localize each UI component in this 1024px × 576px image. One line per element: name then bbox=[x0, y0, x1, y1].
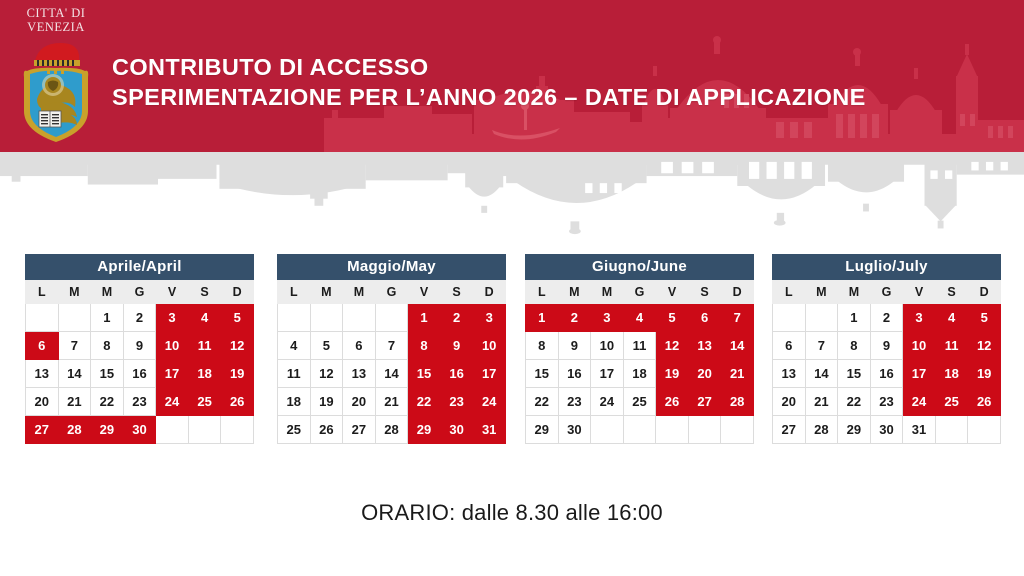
calendar-day-empty bbox=[26, 304, 59, 332]
calendar-day[interactable]: 14 bbox=[805, 360, 838, 388]
calendar-day[interactable]: 20 bbox=[773, 388, 806, 416]
logo-text: CITTA' DI VENEZIA bbox=[6, 6, 106, 34]
calendar-day-highlighted[interactable]: 16 bbox=[440, 360, 473, 388]
calendar-day[interactable]: 30 bbox=[870, 416, 903, 444]
calendar-body: 1234567891011121314151617181920212223242… bbox=[26, 304, 254, 444]
calendar-week-row: 25262728293031 bbox=[278, 416, 506, 444]
calendar-week-row: 13141516171819 bbox=[26, 360, 254, 388]
weekday-header-2: M bbox=[591, 281, 624, 304]
calendar-day[interactable]: 20 bbox=[343, 388, 376, 416]
weekday-header-5: S bbox=[935, 281, 968, 304]
calendar-day-highlighted[interactable]: 28 bbox=[58, 416, 91, 444]
calendar-day[interactable]: 8 bbox=[91, 332, 124, 360]
calendar-day[interactable]: 23 bbox=[870, 388, 903, 416]
calendar-may: Maggio/May LMMGVSD 123456789101112131415… bbox=[277, 254, 506, 444]
calendar-day[interactable]: 7 bbox=[58, 332, 91, 360]
calendar-day-highlighted[interactable]: 4 bbox=[188, 304, 221, 332]
calendar-day[interactable]: 9 bbox=[870, 332, 903, 360]
calendar-day-empty bbox=[221, 416, 254, 444]
slide-root: CITTA' DI VENEZIA bbox=[0, 0, 1024, 576]
calendar-day-highlighted[interactable]: 1 bbox=[408, 304, 441, 332]
calendar-day[interactable]: 13 bbox=[343, 360, 376, 388]
calendar-day-highlighted[interactable]: 11 bbox=[935, 332, 968, 360]
weekday-header-3: G bbox=[375, 281, 408, 304]
calendar-day[interactable]: 26 bbox=[310, 416, 343, 444]
calendar-day[interactable]: 29 bbox=[838, 416, 871, 444]
calendar-day[interactable]: 15 bbox=[838, 360, 871, 388]
calendar-day-empty bbox=[188, 416, 221, 444]
calendar-day[interactable]: 11 bbox=[278, 360, 311, 388]
calendar-day-empty bbox=[773, 304, 806, 332]
calendar-day[interactable]: 25 bbox=[623, 388, 656, 416]
calendar-day[interactable]: 13 bbox=[26, 360, 59, 388]
calendar-day-highlighted[interactable]: 5 bbox=[221, 304, 254, 332]
weekday-header-2: M bbox=[91, 281, 124, 304]
calendar-day-highlighted[interactable]: 3 bbox=[903, 304, 936, 332]
calendar-june: Giugno/June LMMGVSD 12345678910111213141… bbox=[525, 254, 754, 444]
calendar-body: 1234567891011121314151617181920212223242… bbox=[278, 304, 506, 444]
calendar-day-empty bbox=[343, 304, 376, 332]
calendar-title: Luglio/July bbox=[772, 254, 1001, 280]
calendar-april: Aprile/April LMMGVSD 1234567891011121314… bbox=[25, 254, 254, 444]
calendar-week-row: 891011121314 bbox=[526, 332, 754, 360]
calendar-day-highlighted[interactable]: 2 bbox=[558, 304, 591, 332]
calendar-day[interactable]: 16 bbox=[870, 360, 903, 388]
weekday-header-6: D bbox=[721, 281, 754, 304]
weekday-header-5: S bbox=[440, 281, 473, 304]
calendar-day[interactable]: 14 bbox=[58, 360, 91, 388]
calendar-day-highlighted[interactable]: 15 bbox=[408, 360, 441, 388]
calendar-week-row: 15161718192021 bbox=[526, 360, 754, 388]
calendar-day-highlighted[interactable]: 8 bbox=[408, 332, 441, 360]
calendar-day-highlighted[interactable]: 12 bbox=[656, 332, 689, 360]
calendar-week-row: 12345 bbox=[773, 304, 1001, 332]
calendar-day[interactable]: 7 bbox=[805, 332, 838, 360]
calendar-day[interactable]: 4 bbox=[278, 332, 311, 360]
calendar-day-highlighted[interactable]: 24 bbox=[473, 388, 506, 416]
weekday-header-3: G bbox=[623, 281, 656, 304]
skyline-reflection bbox=[0, 152, 1024, 244]
weekday-header-5: S bbox=[188, 281, 221, 304]
venice-coat-of-arms-icon bbox=[17, 37, 95, 145]
calendar-week-row: 45678910 bbox=[278, 332, 506, 360]
calendar-day[interactable]: 14 bbox=[375, 360, 408, 388]
weekday-header-4: V bbox=[156, 281, 189, 304]
calendar-day[interactable]: 30 bbox=[558, 416, 591, 444]
page-title-line1: CONTRIBUTO DI ACCESSO bbox=[112, 52, 866, 82]
calendar-day[interactable]: 21 bbox=[805, 388, 838, 416]
calendar-day-highlighted[interactable]: 2 bbox=[440, 304, 473, 332]
calendar-day-highlighted[interactable]: 6 bbox=[26, 332, 59, 360]
calendar-day[interactable]: 9 bbox=[123, 332, 156, 360]
calendar-day-highlighted[interactable]: 7 bbox=[721, 304, 754, 332]
calendar-day-highlighted[interactable]: 5 bbox=[968, 304, 1001, 332]
page-title: CONTRIBUTO DI ACCESSO SPERIMENTAZIONE PE… bbox=[112, 52, 866, 112]
calendar-day-highlighted[interactable]: 20 bbox=[688, 360, 721, 388]
weekday-header-1: M bbox=[805, 281, 838, 304]
logo-text-line1: CITTA' DI bbox=[6, 6, 106, 20]
calendar-week-row: 20212223242526 bbox=[773, 388, 1001, 416]
calendar-day-empty bbox=[58, 304, 91, 332]
weekday-header-3: G bbox=[870, 281, 903, 304]
calendar-day-highlighted[interactable]: 24 bbox=[156, 388, 189, 416]
calendar-week-row: 2930 bbox=[526, 416, 754, 444]
calendar-day[interactable]: 29 bbox=[526, 416, 559, 444]
calendar-day-highlighted[interactable]: 18 bbox=[188, 360, 221, 388]
calendar-day[interactable]: 11 bbox=[623, 332, 656, 360]
calendar-day-highlighted[interactable]: 10 bbox=[903, 332, 936, 360]
calendar-day-empty bbox=[721, 416, 754, 444]
calendar-day[interactable]: 19 bbox=[310, 388, 343, 416]
calendar-week-row: 12345 bbox=[26, 304, 254, 332]
calendar-day-highlighted[interactable]: 4 bbox=[623, 304, 656, 332]
calendar-day-highlighted[interactable]: 21 bbox=[721, 360, 754, 388]
calendar-day[interactable]: 27 bbox=[343, 416, 376, 444]
calendar-day-empty bbox=[688, 416, 721, 444]
calendar-day-highlighted[interactable]: 30 bbox=[440, 416, 473, 444]
calendar-day[interactable]: 21 bbox=[375, 388, 408, 416]
weekday-header-6: D bbox=[473, 281, 506, 304]
calendar-week-row: 22232425262728 bbox=[526, 388, 754, 416]
calendar-day[interactable]: 7 bbox=[375, 332, 408, 360]
calendar-day[interactable]: 15 bbox=[526, 360, 559, 388]
calendar-title: Aprile/April bbox=[25, 254, 254, 280]
calendar-day[interactable]: 16 bbox=[123, 360, 156, 388]
calendar-day-empty bbox=[278, 304, 311, 332]
calendar-day[interactable]: 23 bbox=[123, 388, 156, 416]
calendar-day-highlighted[interactable]: 10 bbox=[473, 332, 506, 360]
calendar-day-highlighted[interactable]: 25 bbox=[188, 388, 221, 416]
calendar-day-empty bbox=[310, 304, 343, 332]
calendar-title: Giugno/June bbox=[525, 254, 754, 280]
calendar-week-row: 18192021222324 bbox=[278, 388, 506, 416]
weekday-row: LMMGVSD bbox=[773, 281, 1001, 304]
calendar-day-highlighted[interactable]: 1 bbox=[526, 304, 559, 332]
calendar-week-row: 6789101112 bbox=[773, 332, 1001, 360]
calendar-day[interactable]: 27 bbox=[773, 416, 806, 444]
calendar-day[interactable]: 16 bbox=[558, 360, 591, 388]
calendar-week-row: 1234567 bbox=[526, 304, 754, 332]
calendar-week-row: 11121314151617 bbox=[278, 360, 506, 388]
calendar-day[interactable]: 6 bbox=[773, 332, 806, 360]
calendar-week-row: 123 bbox=[278, 304, 506, 332]
weekday-header-2: M bbox=[838, 281, 871, 304]
opening-hours-note: ORARIO: dalle 8.30 alle 16:00 bbox=[0, 500, 1024, 526]
weekday-header-4: V bbox=[903, 281, 936, 304]
weekday-header-0: L bbox=[278, 281, 311, 304]
calendar-day-empty bbox=[805, 304, 838, 332]
calendar-day-empty bbox=[656, 416, 689, 444]
calendar-day[interactable]: 22 bbox=[91, 388, 124, 416]
calendar-day-empty bbox=[968, 416, 1001, 444]
calendar-week-row: 6789101112 bbox=[26, 332, 254, 360]
weekday-row: LMMGVSD bbox=[26, 281, 254, 304]
calendar-day-highlighted[interactable]: 6 bbox=[688, 304, 721, 332]
calendar-day[interactable]: 25 bbox=[278, 416, 311, 444]
calendar-grid: LMMGVSD 12345678910111213141516171819202… bbox=[25, 280, 254, 444]
calendar-day[interactable]: 8 bbox=[838, 332, 871, 360]
calendar-body: 1234567891011121314151617181920212223242… bbox=[526, 304, 754, 444]
calendar-day[interactable]: 1 bbox=[91, 304, 124, 332]
calendar-day-empty bbox=[156, 416, 189, 444]
calendar-day[interactable]: 28 bbox=[805, 416, 838, 444]
calendar-day[interactable]: 24 bbox=[591, 388, 624, 416]
calendar-day-highlighted[interactable]: 14 bbox=[721, 332, 754, 360]
calendar-week-row: 2728293031 bbox=[773, 416, 1001, 444]
weekday-row: LMMGVSD bbox=[278, 281, 506, 304]
calendar-day[interactable]: 18 bbox=[623, 360, 656, 388]
calendar-day[interactable]: 20 bbox=[26, 388, 59, 416]
calendar-day[interactable]: 9 bbox=[558, 332, 591, 360]
calendar-day-highlighted[interactable]: 24 bbox=[903, 388, 936, 416]
weekday-header-6: D bbox=[221, 281, 254, 304]
calendar-day-highlighted[interactable]: 10 bbox=[156, 332, 189, 360]
calendar-grid: LMMGVSD 12345678910111213141516171819202… bbox=[525, 280, 754, 444]
calendar-day[interactable]: 31 bbox=[903, 416, 936, 444]
logo-text-line2: VENEZIA bbox=[6, 20, 106, 34]
weekday-row: LMMGVSD bbox=[526, 281, 754, 304]
calendar-day[interactable]: 17 bbox=[591, 360, 624, 388]
calendar-day[interactable]: 8 bbox=[526, 332, 559, 360]
calendar-day-highlighted[interactable]: 25 bbox=[935, 388, 968, 416]
calendar-day-empty bbox=[935, 416, 968, 444]
calendar-day-highlighted[interactable]: 3 bbox=[473, 304, 506, 332]
calendar-day-highlighted[interactable]: 28 bbox=[721, 388, 754, 416]
weekday-header-1: M bbox=[310, 281, 343, 304]
calendar-day-highlighted[interactable]: 26 bbox=[221, 388, 254, 416]
weekday-header-3: G bbox=[123, 281, 156, 304]
calendar-day-highlighted[interactable]: 29 bbox=[91, 416, 124, 444]
weekday-header-4: V bbox=[656, 281, 689, 304]
weekday-header-0: L bbox=[526, 281, 559, 304]
calendar-day-highlighted[interactable]: 19 bbox=[968, 360, 1001, 388]
calendar-day[interactable]: 13 bbox=[773, 360, 806, 388]
calendar-day-highlighted[interactable]: 18 bbox=[935, 360, 968, 388]
calendar-day-highlighted[interactable]: 17 bbox=[156, 360, 189, 388]
calendar-day-highlighted[interactable]: 13 bbox=[688, 332, 721, 360]
weekday-header-1: M bbox=[58, 281, 91, 304]
header-banner: CITTA' DI VENEZIA bbox=[0, 0, 1024, 152]
calendar-day[interactable]: 28 bbox=[375, 416, 408, 444]
calendar-day[interactable]: 22 bbox=[526, 388, 559, 416]
calendar-day-highlighted[interactable]: 5 bbox=[656, 304, 689, 332]
venezia-logo: CITTA' DI VENEZIA bbox=[6, 6, 106, 146]
calendar-day-highlighted[interactable]: 17 bbox=[903, 360, 936, 388]
calendar-day-highlighted[interactable]: 23 bbox=[440, 388, 473, 416]
calendar-day-empty bbox=[591, 416, 624, 444]
calendar-day-highlighted[interactable]: 29 bbox=[408, 416, 441, 444]
calendar-day-highlighted[interactable]: 4 bbox=[935, 304, 968, 332]
weekday-header-1: M bbox=[558, 281, 591, 304]
calendar-day-highlighted[interactable]: 31 bbox=[473, 416, 506, 444]
calendar-day-highlighted[interactable]: 12 bbox=[221, 332, 254, 360]
calendar-day-highlighted[interactable]: 3 bbox=[591, 304, 624, 332]
calendar-day-highlighted[interactable]: 12 bbox=[968, 332, 1001, 360]
calendar-week-row: 13141516171819 bbox=[773, 360, 1001, 388]
calendar-body: 1234567891011121314151617181920212223242… bbox=[773, 304, 1001, 444]
weekday-header-0: L bbox=[26, 281, 59, 304]
calendar-day-highlighted[interactable]: 26 bbox=[968, 388, 1001, 416]
skyline-reflection-icon bbox=[0, 152, 1024, 244]
calendar-day[interactable]: 21 bbox=[58, 388, 91, 416]
weekday-header-4: V bbox=[408, 281, 441, 304]
weekday-header-2: M bbox=[343, 281, 376, 304]
calendar-day[interactable]: 5 bbox=[310, 332, 343, 360]
calendar-day-highlighted[interactable]: 19 bbox=[221, 360, 254, 388]
calendar-week-row: 27282930 bbox=[26, 416, 254, 444]
calendar-day-highlighted[interactable]: 3 bbox=[156, 304, 189, 332]
calendar-day[interactable]: 23 bbox=[558, 388, 591, 416]
calendar-day[interactable]: 2 bbox=[870, 304, 903, 332]
calendar-grid: LMMGVSD 12345678910111213141516171819202… bbox=[277, 280, 506, 444]
calendar-day[interactable]: 12 bbox=[310, 360, 343, 388]
calendar-day[interactable]: 6 bbox=[343, 332, 376, 360]
calendar-day-highlighted[interactable]: 17 bbox=[473, 360, 506, 388]
calendar-day[interactable]: 15 bbox=[91, 360, 124, 388]
calendar-day-highlighted[interactable]: 19 bbox=[656, 360, 689, 388]
calendar-day-highlighted[interactable]: 9 bbox=[440, 332, 473, 360]
calendar-day[interactable]: 22 bbox=[838, 388, 871, 416]
weekday-header-5: S bbox=[688, 281, 721, 304]
calendar-july: Luglio/July LMMGVSD 12345678910111213141… bbox=[772, 254, 1001, 444]
calendar-week-row: 20212223242526 bbox=[26, 388, 254, 416]
calendar-day[interactable]: 18 bbox=[278, 388, 311, 416]
calendar-day[interactable]: 10 bbox=[591, 332, 624, 360]
calendar-day[interactable]: 1 bbox=[838, 304, 871, 332]
calendar-day-highlighted[interactable]: 27 bbox=[688, 388, 721, 416]
calendar-day-empty bbox=[623, 416, 656, 444]
calendar-day-highlighted[interactable]: 22 bbox=[408, 388, 441, 416]
calendar-day-highlighted[interactable]: 30 bbox=[123, 416, 156, 444]
calendar-day-highlighted[interactable]: 11 bbox=[188, 332, 221, 360]
page-title-line2: SPERIMENTAZIONE PER L’ANNO 2026 – DATE D… bbox=[112, 82, 866, 112]
calendar-grid: LMMGVSD 12345678910111213141516171819202… bbox=[772, 280, 1001, 444]
weekday-header-6: D bbox=[968, 281, 1001, 304]
calendar-day-highlighted[interactable]: 27 bbox=[26, 416, 59, 444]
weekday-header-0: L bbox=[773, 281, 806, 304]
calendar-title: Maggio/May bbox=[277, 254, 506, 280]
calendar-day-highlighted[interactable]: 26 bbox=[656, 388, 689, 416]
calendar-day[interactable]: 2 bbox=[123, 304, 156, 332]
calendar-day-empty bbox=[375, 304, 408, 332]
